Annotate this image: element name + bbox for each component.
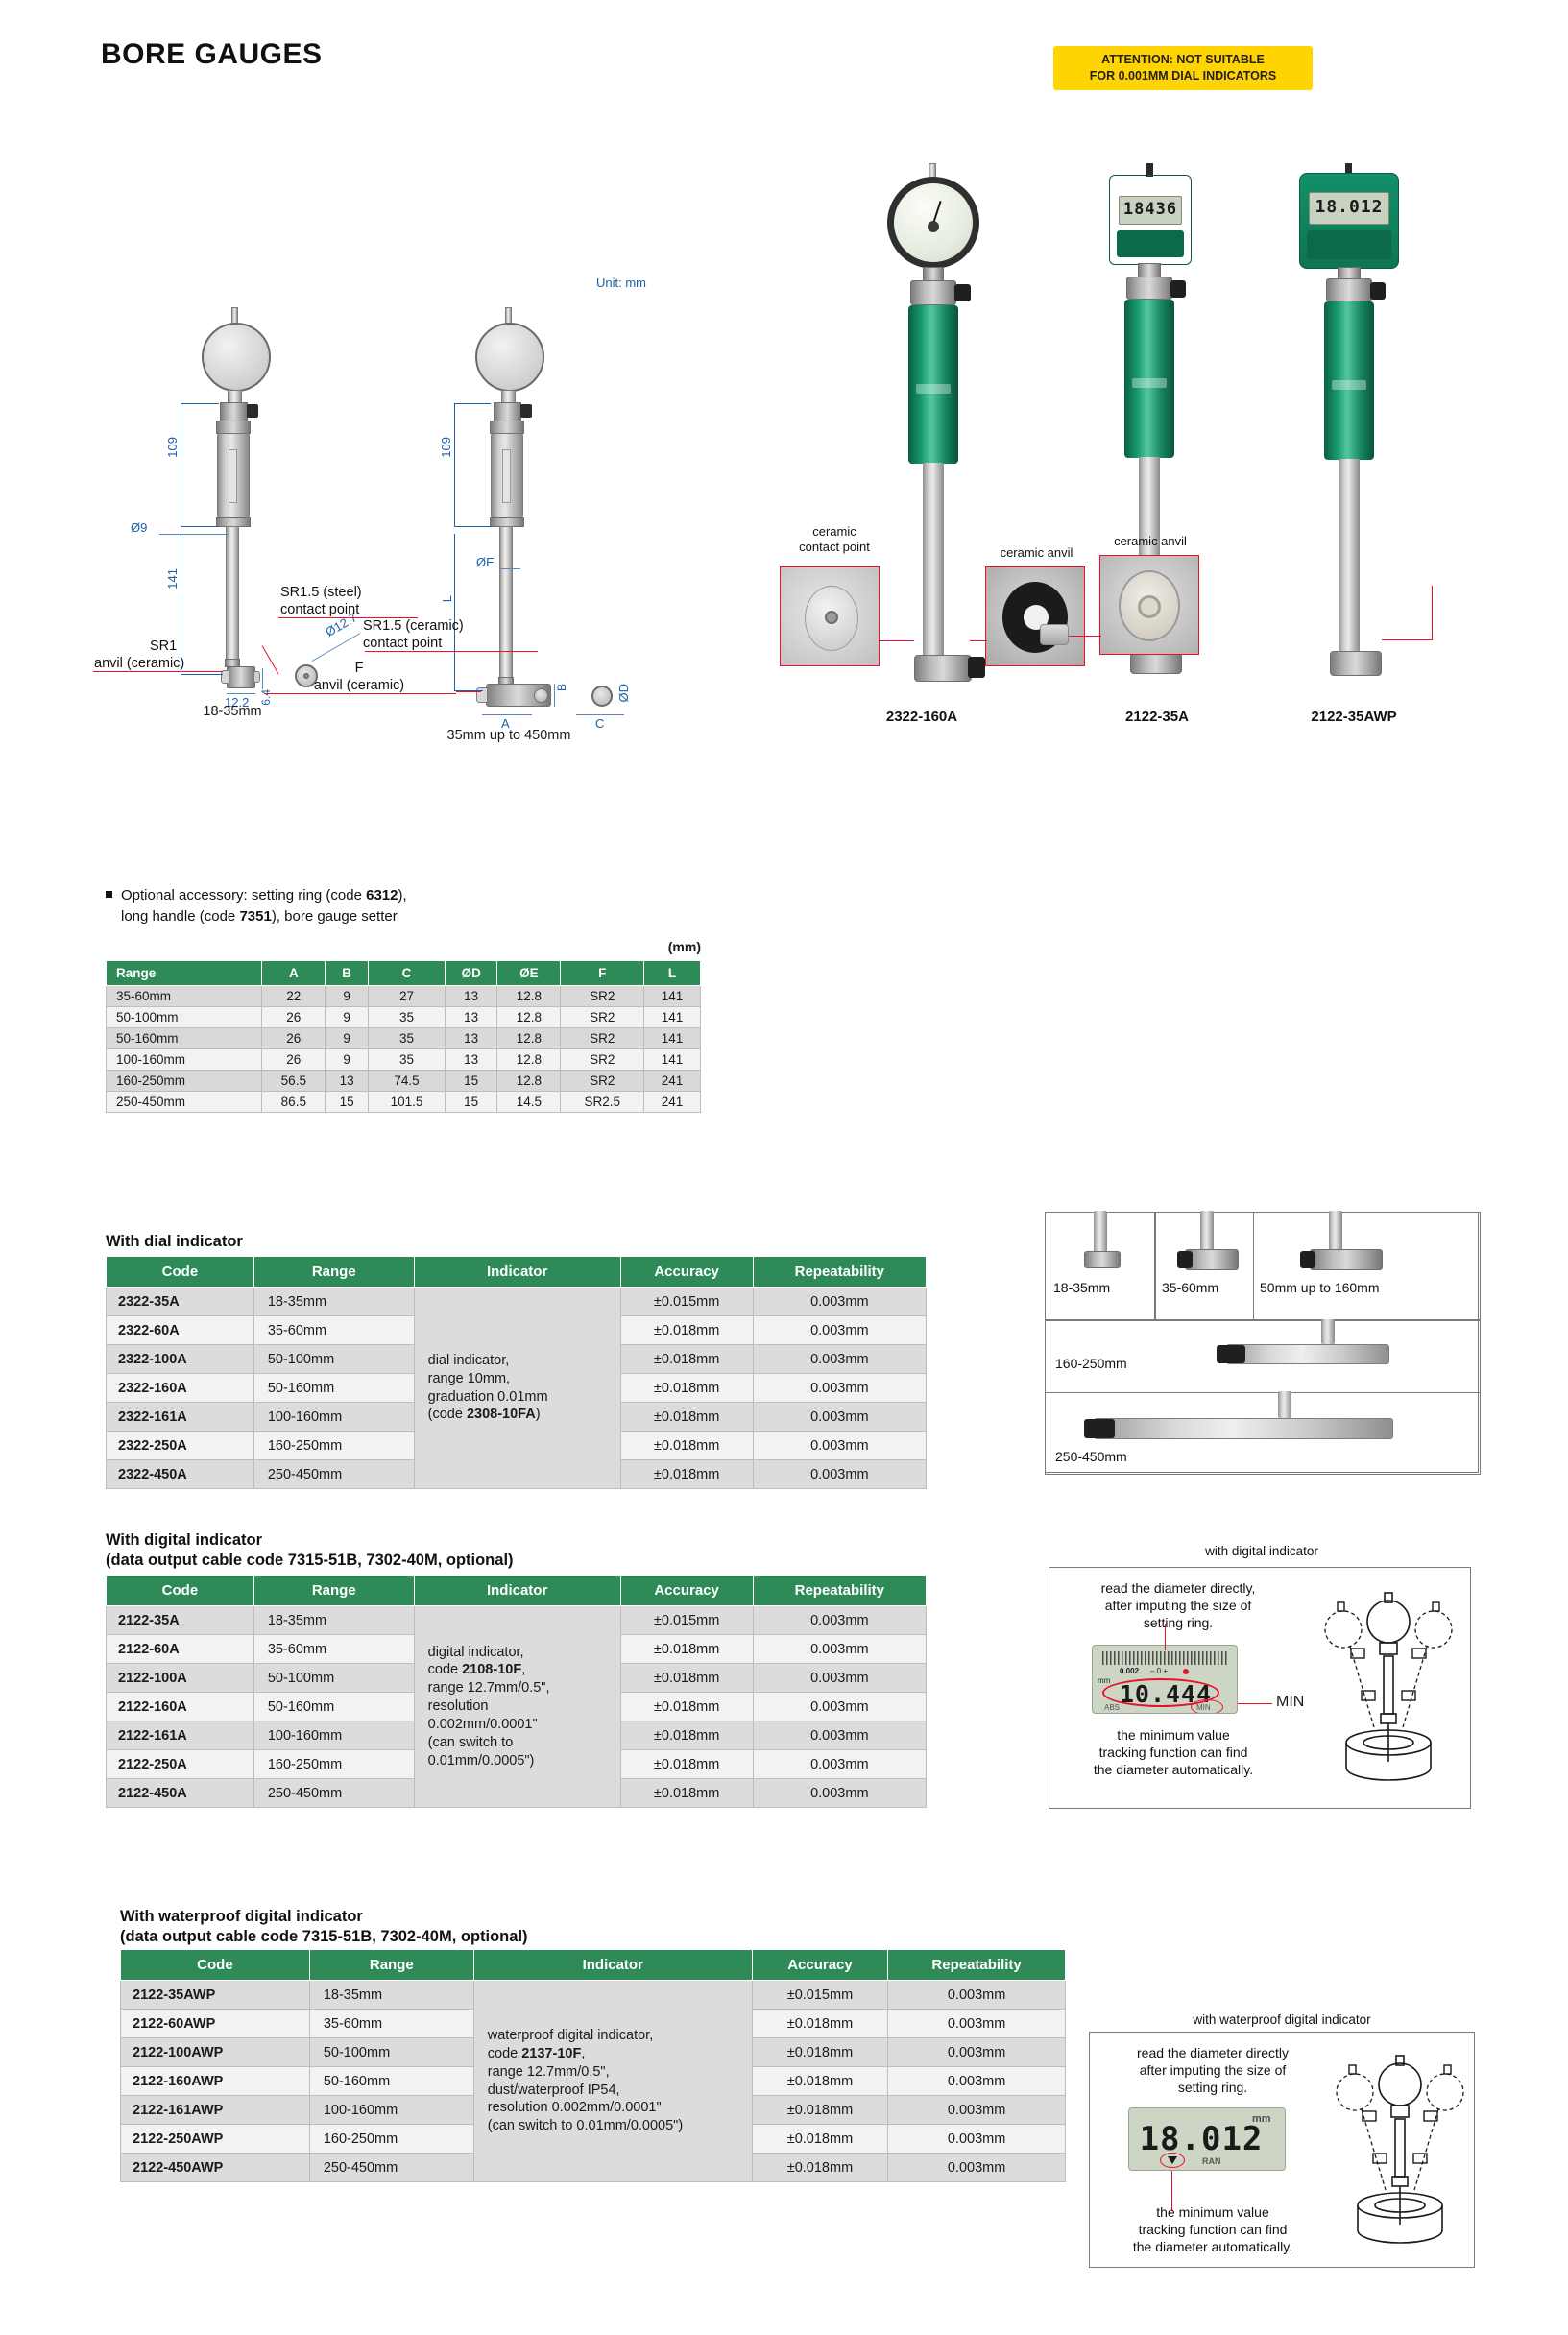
table-cell: 35-60mm [107, 986, 262, 1007]
product-range: 35-60mm [309, 2010, 473, 2038]
dim-DE-label: ØE [476, 555, 495, 569]
dims-col-b: B [326, 961, 369, 986]
drawing-right: 109 L ØE A B ØD C SR1.5 (ceramic) contac… [403, 307, 720, 730]
table-cell: 12.8 [497, 1007, 561, 1028]
gauge-in-ring-diagram-wp [1328, 2046, 1472, 2252]
table-cell: 50-100mm [107, 1007, 262, 1028]
waterproof-info-top-l1: read the diameter directly [1101, 2044, 1324, 2061]
range-label-160-250: 160-250mm [1055, 1356, 1127, 1371]
lcd-red-dot [1183, 1669, 1189, 1674]
col-code: Code [121, 1950, 310, 1981]
optional-note-code-7351: 7351 [239, 908, 271, 925]
dims-col-e: ØE [497, 961, 561, 986]
dim-109-line [181, 403, 181, 526]
product-range: 50-160mm [253, 1693, 414, 1721]
callout-sr15c-line1: SR1.5 (ceramic) [363, 617, 550, 635]
table-cell: 15 [445, 1092, 497, 1113]
product-range: 35-60mm [253, 1316, 414, 1345]
accuracy-value: ±0.018mm [620, 1403, 753, 1432]
col-repeatability: Repeatability [753, 1576, 926, 1606]
dim-B-line [554, 684, 555, 707]
page-title: BORE GAUGES [101, 38, 323, 71]
optional-note-l2b: ), bore gauge setter [272, 908, 398, 925]
accuracy-value: ±0.018mm [620, 1664, 753, 1693]
product-range: 160-250mm [253, 1750, 414, 1779]
range-cell-35-60: 35-60mm [1155, 1212, 1254, 1320]
grip-window-r [502, 449, 511, 503]
waterproof-section-title-l2: (data output cable code 7315-51B, 7302-4… [120, 1927, 850, 1947]
wp-lcd-value: 18.012 [1309, 197, 1389, 217]
table-cell: 26 [262, 1007, 326, 1028]
dial-neck-r [501, 390, 516, 403]
digital-info-bottom: the minimum value tracking function can … [1063, 1726, 1284, 1779]
digital-indicator-table: CodeRangeIndicatorAccuracyRepeatability … [106, 1575, 927, 1808]
table-cell: 12.8 [497, 1071, 561, 1092]
table-cell: 74.5 [369, 1071, 446, 1092]
product-2122-35AWP: 18.012 2122-35AWP [1253, 163, 1464, 787]
gauge-shaft-r [499, 526, 513, 680]
col-range: Range [309, 1950, 473, 1981]
detail-leader-contact [880, 640, 914, 641]
table-row: 35-60mm229271312.8SR2141 [107, 986, 701, 1007]
repeatability-value: 0.003mm [753, 1779, 926, 1808]
range-knob-3 [1300, 1251, 1315, 1268]
waterproof-lcd-min-ellipse [1160, 2153, 1185, 2168]
dial-table-header: CodeRangeIndicatorAccuracyRepeatability [107, 1257, 927, 1288]
product-code: 2322-161A [107, 1403, 254, 1432]
waterproof-info-lcd: 18.012 mm RAN [1128, 2107, 1286, 2171]
accuracy-value: ±0.018mm [620, 1693, 753, 1721]
callout-sr15c-text: SR1.5 (ceramic) contact point [363, 617, 550, 652]
dial-indicator-face [202, 323, 271, 392]
indicator-line: (code 2308-10FA) [428, 1406, 615, 1424]
product-code: 2122-35AWP [121, 1981, 310, 2010]
contact-point-detail-r [591, 686, 613, 707]
range-label-50-160: 50mm up to 160mm [1260, 1280, 1380, 1295]
table-cell: 9 [326, 986, 369, 1007]
range-shaft-5 [1278, 1391, 1291, 1418]
table-cell: SR2 [561, 1028, 644, 1049]
dim-109-tick-top [181, 403, 219, 404]
indicator-line: 0.002mm/0.0001" [428, 1716, 615, 1734]
digital-info-bottom-l1: the minimum value [1063, 1726, 1284, 1744]
waterproof-info-top: read the diameter directly after imputin… [1101, 2044, 1324, 2097]
table-cell: 56.5 [262, 1071, 326, 1092]
waterproof-info-bottom-l2: tracking function can find [1099, 2221, 1326, 2238]
accuracy-value: ±0.018mm [620, 1750, 753, 1779]
product-range: 250-450mm [253, 1460, 414, 1489]
waterproof-indicator-table: CodeRangeIndicatorAccuracyRepeatability … [120, 1949, 1066, 2182]
dimensions-table: RangeABCØDØEFL 35-60mm229271312.8SR21415… [106, 960, 701, 1113]
table-cell: 26 [262, 1028, 326, 1049]
product-code: 2122-60A [107, 1635, 254, 1664]
table-cell: 35 [369, 1007, 446, 1028]
dial-table-body: 2322-35A18-35mmdial indicator,range 10mm… [107, 1288, 927, 1489]
repeatability-value: 0.003mm [888, 2125, 1066, 2154]
range-shaft-4 [1321, 1319, 1335, 1344]
product-code: 2122-100AWP [121, 2038, 310, 2067]
range-cell-160-250: 160-250mm [1045, 1320, 1481, 1393]
table-cell: 160-250mm [107, 1071, 262, 1092]
accuracy-value: ±0.018mm [620, 1779, 753, 1808]
accuracy-value: ±0.015mm [752, 1981, 887, 2010]
head-photo-3 [1330, 651, 1382, 676]
col-range: Range [253, 1576, 414, 1606]
digital-info-title: with digital indicator [1045, 1544, 1479, 1558]
table-cell: 13 [445, 1049, 497, 1071]
range-shaft-1 [1094, 1211, 1107, 1253]
gauge-in-ring-diagram [1316, 1583, 1460, 1790]
dim-109-tick-top-r [454, 403, 491, 404]
range-shaft-2 [1200, 1211, 1214, 1251]
table-cell: 13 [445, 1028, 497, 1049]
table-cell: 241 [644, 1092, 701, 1113]
callout-sr1-line1: SR1 [94, 638, 229, 655]
lcd-abs-label: ABS [1104, 1703, 1120, 1712]
repeatability-value: 0.003mm [888, 2010, 1066, 2038]
table-cell: 241 [644, 1071, 701, 1092]
product-code: 2122-160AWP [121, 2067, 310, 2096]
product-code: 2122-250A [107, 1750, 254, 1779]
table-row: 160-250mm56.51374.51512.8SR2241 [107, 1071, 701, 1092]
digital-table-header: CodeRangeIndicatorAccuracyRepeatability [107, 1576, 927, 1606]
table-cell: 35 [369, 1049, 446, 1071]
repeatability-value: 0.003mm [888, 2096, 1066, 2125]
repeatability-value: 0.003mm [753, 1606, 926, 1635]
product-code: 2122-250AWP [121, 2125, 310, 2154]
caption-2122-35A: 2122-35A [1071, 709, 1243, 725]
product-code: 2122-450A [107, 1779, 254, 1808]
digital-info-lcd: 0.002 – 0 + mm 10.444 ABS MIN [1092, 1645, 1238, 1714]
table-cell: 15 [326, 1092, 369, 1113]
bullet-square-icon [106, 891, 112, 898]
range-head-2 [1185, 1249, 1239, 1270]
col-indicator: Indicator [473, 1950, 752, 1981]
product-code: 2122-60AWP [121, 2010, 310, 2038]
table-cell: 141 [644, 1028, 701, 1049]
optional-note-l1b: ), [398, 887, 407, 903]
optional-note-l1a: Optional accessory: setting ring (code [121, 887, 366, 903]
dim-109-label-r: 109 [439, 437, 453, 458]
handle-collar-top [216, 421, 251, 434]
product-range: 50-160mm [309, 2067, 473, 2096]
waterproof-section-title-l1: With waterproof digital indicator [120, 1907, 850, 1927]
attention-line-2: FOR 0.001MM DIAL INDICATORS [1057, 68, 1309, 84]
col-indicator: Indicator [414, 1576, 620, 1606]
product-range: 160-250mm [253, 1432, 414, 1460]
detail-contact-hole [825, 611, 838, 624]
repeatability-value: 0.003mm [753, 1635, 926, 1664]
table-cell: 13 [326, 1071, 369, 1092]
accuracy-value: ±0.018mm [620, 1460, 753, 1489]
dial-indicator-face-r [475, 323, 544, 392]
wp-buttons [1307, 230, 1391, 259]
callout-f-text: F anvil (ceramic) [263, 660, 455, 694]
table-cell: SR2 [561, 1049, 644, 1071]
waterproof-info-top-l3: setting ring. [1101, 2079, 1324, 2096]
repeatability-value: 0.003mm [753, 1664, 926, 1693]
table-cell: 50-160mm [107, 1028, 262, 1049]
unit-label: Unit: mm [596, 276, 646, 290]
table-cell: 9 [326, 1007, 369, 1028]
dims-col-a: A [262, 961, 326, 986]
digital-section-title: With digital indicator (data output cabl… [106, 1530, 797, 1572]
product-code: 2322-250A [107, 1432, 254, 1460]
product-code: 2322-35A [107, 1288, 254, 1316]
accuracy-value: ±0.018mm [620, 1432, 753, 1460]
optional-note-line1: Optional accessory: setting ring (code 6… [106, 885, 407, 906]
product-code: 2122-35A [107, 1606, 254, 1635]
note-ceramic-anvil-2: ceramic anvil [1098, 534, 1203, 549]
dims-col-l: L [644, 961, 701, 986]
digital-info-min-label: MIN [1276, 1694, 1304, 1711]
col-code: Code [107, 1257, 254, 1288]
indicator-line: resolution [428, 1697, 615, 1716]
range-cell-50-160: 50mm up to 160mm [1253, 1212, 1481, 1320]
grip-window [229, 449, 237, 503]
caption-2122-35AWP: 2122-35AWP [1263, 709, 1445, 725]
dim-109-line-r [454, 403, 455, 526]
waterproof-info-title: with waterproof digital indicator [1085, 2012, 1479, 2027]
repeatability-value: 0.003mm [753, 1721, 926, 1750]
product-range: 50-160mm [253, 1374, 414, 1403]
indicator-line: (can switch to [428, 1734, 615, 1752]
indicator-description: dial indicator,range 10mm,graduation 0.0… [414, 1288, 620, 1489]
table-cell: 12.8 [497, 1028, 561, 1049]
indicator-line: code 2108-10F, [428, 1661, 615, 1679]
indicator-code: 2108-10F [462, 1662, 521, 1677]
note-ceramic-contact: ceramic contact point [772, 524, 897, 556]
table-cell: 12.8 [497, 1049, 561, 1071]
shaft-photo-3 [1339, 459, 1360, 656]
dims-col-d: ØD [445, 961, 497, 986]
range-head-3 [1310, 1249, 1383, 1270]
drawing-right-caption: 35mm up to 450mm [365, 728, 653, 743]
callout-f-line1: F [263, 660, 455, 677]
accuracy-value: ±0.018mm [752, 2067, 887, 2096]
table-cell: 13 [445, 1007, 497, 1028]
accuracy-value: ±0.018mm [620, 1345, 753, 1374]
digital-info-top-l2: after imputing the size of [1063, 1597, 1293, 1614]
table-cell: 141 [644, 1049, 701, 1071]
repeatability-value: 0.003mm [888, 2154, 1066, 2182]
digital-table-body: 2122-35A18-35mmdigital indicator,code 21… [107, 1606, 927, 1808]
table-cell: SR2 [561, 1071, 644, 1092]
accuracy-value: ±0.018mm [752, 2154, 887, 2182]
product-range: 100-160mm [253, 1721, 414, 1750]
callout-sr1-text: SR1 anvil (ceramic) [94, 638, 229, 672]
dims-col-c: C [369, 961, 446, 986]
table-row: 50-160mm269351312.8SR2141 [107, 1028, 701, 1049]
accuracy-value: ±0.018mm [620, 1374, 753, 1403]
lcd-sign-scale: – 0 + [1150, 1667, 1168, 1675]
table-cell: 141 [644, 986, 701, 1007]
table-cell: 35 [369, 1028, 446, 1049]
digital-info-panel: read the diameter directly, after imputi… [1049, 1567, 1471, 1809]
table-cell: 27 [369, 986, 446, 1007]
detail-anvil-2-hole [1138, 595, 1161, 618]
indicator-description: digital indicator,code 2108-10F,range 12… [414, 1606, 620, 1808]
digital-lcd-value: 18436 [1119, 200, 1182, 219]
repeatability-value: 0.003mm [753, 1460, 926, 1489]
dim-109-label: 109 [165, 437, 180, 458]
dims-col-range: Range [107, 961, 262, 986]
range-label-35-60: 35-60mm [1162, 1280, 1218, 1295]
dim-141-tick-bottom [181, 674, 223, 675]
indicator-line: dust/waterproof IP54, [488, 2082, 746, 2100]
dim-DE-leader [499, 568, 520, 569]
product-code: 2322-450A [107, 1460, 254, 1489]
product-range: 160-250mm [309, 2125, 473, 2154]
accuracy-value: ±0.018mm [752, 2125, 887, 2154]
waterproof-info-lcd-value: 18.012 [1129, 2120, 1273, 2158]
dial-photo-knob [954, 284, 971, 301]
accuracy-value: ±0.015mm [620, 1288, 753, 1316]
col-code: Code [107, 1576, 254, 1606]
table-cell: SR2 [561, 986, 644, 1007]
optional-accessory-note: Optional accessory: setting ring (code 6… [106, 885, 407, 927]
lcd-resolution-label: 0.002 [1120, 1667, 1139, 1675]
product-photos: ceramic contact point ceramic anvil 2322… [797, 163, 1527, 835]
repeatability-value: 0.003mm [888, 2038, 1066, 2067]
dial-section-title: With dial indicator [106, 1232, 243, 1252]
product-range: 100-160mm [309, 2096, 473, 2125]
repeatability-value: 0.003mm [753, 1288, 926, 1316]
table-cell: 26 [262, 1049, 326, 1071]
dimensions-table-body: 35-60mm229271312.8SR214150-100mm26935131… [107, 986, 701, 1113]
product-range: 50-100mm [253, 1664, 414, 1693]
range-body-4 [1226, 1344, 1389, 1364]
table-cell: 13 [445, 986, 497, 1007]
product-range: 18-35mm [309, 1981, 473, 2010]
dial-neck [228, 390, 242, 403]
digital-info-bottom-l3: the diameter automatically. [1063, 1761, 1284, 1778]
green-handle-3-label [1332, 380, 1366, 390]
product-range: 250-450mm [253, 1779, 414, 1808]
range-knob-5 [1084, 1419, 1115, 1438]
clamp-knob-r [520, 404, 532, 418]
note-ceramic-contact-l1: ceramic [772, 524, 897, 540]
waterproof-lcd-unit: mm [1252, 2113, 1271, 2125]
digital-buttons [1117, 230, 1184, 257]
optional-note-code-6312: 6312 [366, 887, 398, 903]
accuracy-value: ±0.018mm [752, 2010, 887, 2038]
col-range: Range [253, 1257, 414, 1288]
col-repeatability: Repeatability [753, 1257, 926, 1288]
table-row: 2122-35A18-35mmdigital indicator,code 21… [107, 1606, 927, 1635]
waterproof-lcd-ran: RAN [1202, 2156, 1221, 2166]
table-row: 50-100mm269351312.8SR2141 [107, 1007, 701, 1028]
waterproof-info-bottom: the minimum value tracking function can … [1099, 2203, 1326, 2256]
wp-clamp [1326, 278, 1372, 301]
table-cell: 14.5 [497, 1092, 561, 1113]
dimensions-table-wrap: (mm) RangeABCØDØEFL 35-60mm229271312.8SR… [106, 960, 701, 1113]
product-range: 50-100mm [309, 2038, 473, 2067]
dial-indicator-table: CodeRangeIndicatorAccuracyRepeatability … [106, 1256, 927, 1489]
dim-C-line [576, 714, 624, 715]
waterproof-info-bottom-l1: the minimum value [1099, 2203, 1326, 2221]
measuring-head [227, 666, 255, 688]
product-code: 2322-160A [107, 1374, 254, 1403]
waterproof-table-body: 2122-35AWP18-35mmwaterproof digital indi… [121, 1981, 1066, 2182]
detail-leader-anvil-2 [1063, 636, 1101, 637]
dim-d9-label: Ø9 [131, 520, 147, 535]
head-photo-1 [914, 655, 972, 682]
col-accuracy: Accuracy [620, 1576, 753, 1606]
waterproof-info-panel: read the diameter directly after imputin… [1089, 2032, 1475, 2268]
product-code: 2122-161AWP [121, 2096, 310, 2125]
accuracy-value: ±0.018mm [620, 1316, 753, 1345]
indicator-line: resolution 0.002mm/0.0001" [488, 2099, 746, 2117]
indicator-line: waterproof digital indicator, [488, 2027, 746, 2045]
indicator-line: code 2137-10F, [488, 2045, 746, 2063]
table-row: 100-160mm269351312.8SR2141 [107, 1049, 701, 1071]
dim-B-label: B [555, 684, 568, 691]
digital-info-top: read the diameter directly, after imputi… [1063, 1579, 1293, 1632]
indicator-line: (can switch to 0.01mm/0.0005") [488, 2117, 746, 2135]
digital-info-leader-min [1238, 1703, 1272, 1704]
dim-109-tick-bottom [181, 526, 219, 527]
accuracy-value: ±0.018mm [752, 2096, 887, 2125]
optional-note-line2: long handle (code 7351), bore gauge sett… [106, 906, 407, 927]
repeatability-value: 0.003mm [753, 1403, 926, 1432]
digital-section-title-l2: (data output cable code 7315-51B, 7302-4… [106, 1551, 797, 1571]
optional-note-l2a: long handle (code [121, 908, 239, 925]
indicator-line: digital indicator, [428, 1644, 615, 1662]
product-2122-35A: 18436 ceramic anvil 2122-35A [1080, 163, 1272, 787]
indicator-line: graduation 0.01mm [428, 1388, 615, 1407]
range-shaft-3 [1329, 1211, 1342, 1251]
table-cell: 250-450mm [107, 1092, 262, 1113]
indicator-line: range 12.7mm/0.5", [428, 1679, 615, 1697]
table-cell: 12.8 [497, 986, 561, 1007]
col-accuracy: Accuracy [752, 1950, 887, 1981]
accuracy-value: ±0.018mm [620, 1721, 753, 1750]
note-ceramic-anvil-1: ceramic anvil [981, 545, 1092, 561]
table-cell: 141 [644, 1007, 701, 1028]
indicator-line: 0.01mm/0.0005") [428, 1752, 615, 1770]
table-cell: 100-160mm [107, 1049, 262, 1071]
dial-photo-clamp [910, 280, 956, 305]
clamp-block-r [494, 402, 521, 421]
table-cell: SR2.5 [561, 1092, 644, 1113]
repeatability-value: 0.003mm [888, 1981, 1066, 2010]
indicator-line: range 10mm, [428, 1370, 615, 1388]
clamp-block [220, 402, 248, 421]
waterproof-info-bottom-l3: the diameter automatically. [1099, 2238, 1326, 2255]
repeatability-value: 0.003mm [888, 2067, 1066, 2096]
product-range: 18-35mm [253, 1606, 414, 1635]
range-head-1 [1084, 1251, 1121, 1268]
range-cell-250-450: 250-450mm [1045, 1392, 1481, 1475]
callout-sr1-line2: anvil (ceramic) [94, 655, 229, 672]
detail-leader-anvil-3-h [1382, 639, 1432, 640]
green-handle-2-label [1132, 378, 1167, 388]
accuracy-value: ±0.015mm [620, 1606, 753, 1635]
lcd-min-ellipse [1191, 1699, 1223, 1714]
product-2322-160A: ceramic contact point ceramic anvil 2322… [797, 163, 1018, 787]
green-handle-1-label [916, 384, 951, 394]
callout-sr15c-line2: contact point [363, 635, 550, 652]
table-cell: SR2 [561, 1007, 644, 1028]
range-label-250-450: 250-450mm [1055, 1449, 1127, 1464]
lcd-bar-graph [1102, 1651, 1229, 1665]
waterproof-info-top-l2: after imputing the size of [1101, 2061, 1324, 2079]
handle-collar-top-r [490, 421, 524, 434]
range-cell-18-35: 18-35mm [1045, 1212, 1155, 1320]
product-code: 2322-60A [107, 1316, 254, 1345]
dim-A-line [482, 714, 532, 715]
